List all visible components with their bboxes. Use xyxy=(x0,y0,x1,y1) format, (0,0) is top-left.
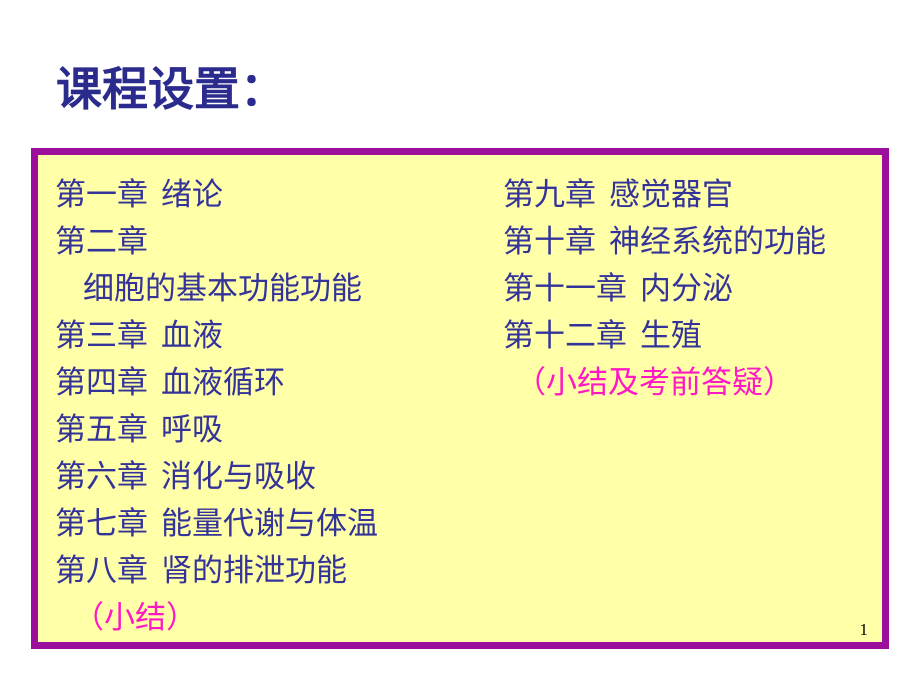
chapter-title: 感觉器官 xyxy=(609,177,733,212)
chapter-label: 第一章 xyxy=(55,177,148,212)
content-box: 第一章绪论 第二章细胞的基本功能功能 第三章血液 第四章血液循环 第五章呼吸 第… xyxy=(31,148,889,649)
chapter-title: 生殖 xyxy=(640,318,702,353)
toc-right-column: 第九章感觉器官 第十章神经系统的功能 第十一章内分泌 第十二章生殖 （小结及考前… xyxy=(503,171,893,406)
chapter-label: 第十二章 xyxy=(503,318,627,353)
chapter-label: 第九章 xyxy=(503,177,596,212)
list-item: 第一章绪论 xyxy=(55,171,485,218)
list-item: 第六章消化与吸收 xyxy=(55,453,485,500)
chapter-label: 第十章 xyxy=(503,224,596,259)
chapter-title: 血液循环 xyxy=(161,365,285,400)
toc-left-column: 第一章绪论 第二章细胞的基本功能功能 第三章血液 第四章血液循环 第五章呼吸 第… xyxy=(55,171,485,641)
chapter-title: 消化与吸收 xyxy=(161,459,316,494)
list-item: 第八章肾的排泄功能 xyxy=(55,547,485,594)
chapter-label: 第二章 xyxy=(55,224,148,259)
chapter-title: 肾的排泄功能 xyxy=(161,553,347,588)
chapter-label: 第五章 xyxy=(55,412,148,447)
summary-note-right: （小结及考前答疑） xyxy=(503,359,893,406)
chapter-label: 第六章 xyxy=(55,459,148,494)
list-item: 第七章能量代谢与体温 xyxy=(55,500,485,547)
list-item: 第三章血液 xyxy=(55,312,485,359)
page-number: 1 xyxy=(860,620,869,640)
list-item: 第四章血液循环 xyxy=(55,359,485,406)
page-title: 课程设置： xyxy=(56,62,286,118)
slide-canvas: 课程设置： 第一章绪论 第二章细胞的基本功能功能 第三章血液 第四章血液循环 第… xyxy=(0,0,920,690)
chapter-label: 第七章 xyxy=(55,506,148,541)
chapter-title: 绪论 xyxy=(161,177,223,212)
list-item: 第十一章内分泌 xyxy=(503,265,893,312)
chapter-title: 血液 xyxy=(161,318,223,353)
chapter-title: 神经系统的功能 xyxy=(609,224,826,259)
chapter-title: 细胞的基本功能功能 xyxy=(55,265,485,312)
chapter-label: 第三章 xyxy=(55,318,148,353)
list-item: 第五章呼吸 xyxy=(55,406,485,453)
list-item: 第九章感觉器官 xyxy=(503,171,893,218)
chapter-label: 第八章 xyxy=(55,553,148,588)
chapter-title: 呼吸 xyxy=(161,412,223,447)
list-item: 第十章神经系统的功能 xyxy=(503,218,893,265)
chapter-title: 内分泌 xyxy=(640,271,733,306)
list-item: 第二章细胞的基本功能功能 xyxy=(55,218,485,312)
content-box-inner: 第一章绪论 第二章细胞的基本功能功能 第三章血液 第四章血液循环 第五章呼吸 第… xyxy=(38,155,882,642)
chapter-title: 能量代谢与体温 xyxy=(161,506,378,541)
list-item: 第十二章生殖 xyxy=(503,312,893,359)
summary-note-left: （小结） xyxy=(55,594,485,641)
chapter-label: 第十一章 xyxy=(503,271,627,306)
chapter-label: 第四章 xyxy=(55,365,148,400)
